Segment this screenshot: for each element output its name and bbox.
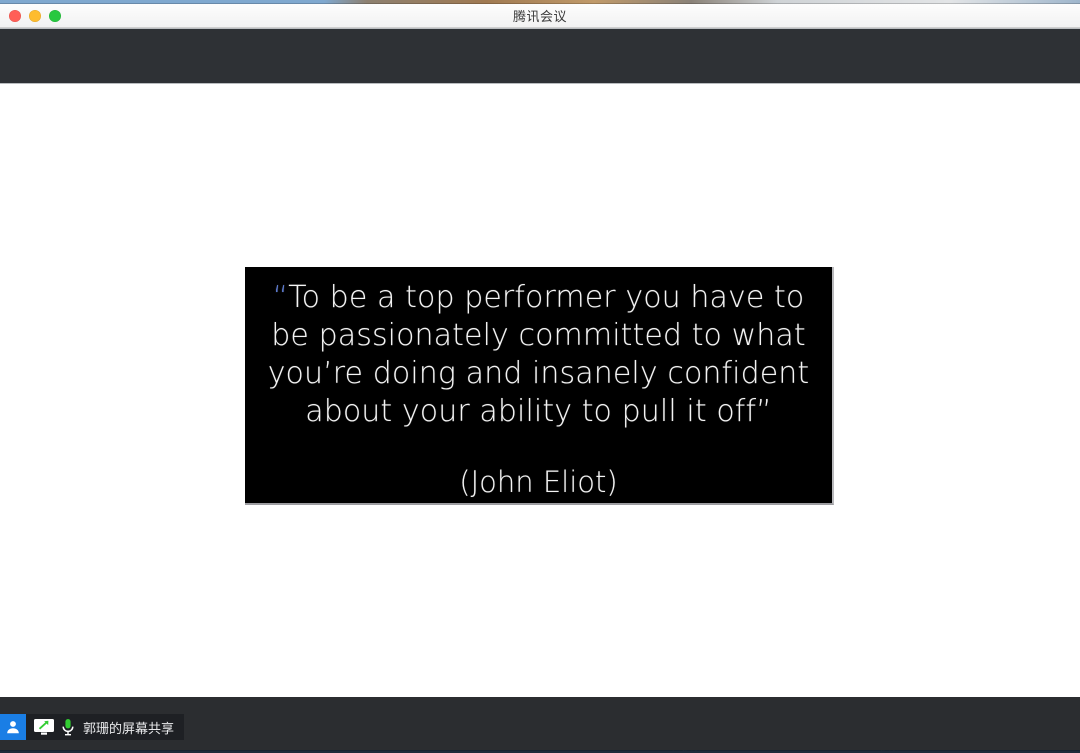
title-bar: 腾讯会议 <box>0 4 1080 28</box>
meeting-toolbar[interactable] <box>0 28 1080 84</box>
quote-attribution: (John Eliot) <box>459 465 617 499</box>
shared-screen-canvas: “To be a top performer you have to be pa… <box>0 84 1080 699</box>
quote-text: “To be a top performer you have to be pa… <box>259 279 819 431</box>
share-indicator-label: 郭珊的屏幕共享 <box>83 718 174 737</box>
screen-share-indicator[interactable]: 郭珊的屏幕共享 <box>0 714 184 740</box>
maximize-button[interactable] <box>49 10 61 22</box>
close-button[interactable] <box>9 10 21 22</box>
window-controls <box>9 4 61 27</box>
person-icon[interactable] <box>0 714 26 740</box>
quote-slide: “To be a top performer you have to be pa… <box>245 267 834 505</box>
meeting-window: 腾讯会议 “To be a top performer you have to … <box>0 4 1080 750</box>
window-title: 腾讯会议 <box>0 6 1080 25</box>
taskbar: 郭珊的屏幕共享 <box>0 697 1080 750</box>
open-quote-mark: “ <box>273 280 289 315</box>
minimize-button[interactable] <box>29 10 41 22</box>
screen-share-icon[interactable] <box>32 718 56 736</box>
quote-body-text: To be a top performer you have to be pas… <box>268 280 810 429</box>
microphone-icon[interactable] <box>60 718 76 736</box>
